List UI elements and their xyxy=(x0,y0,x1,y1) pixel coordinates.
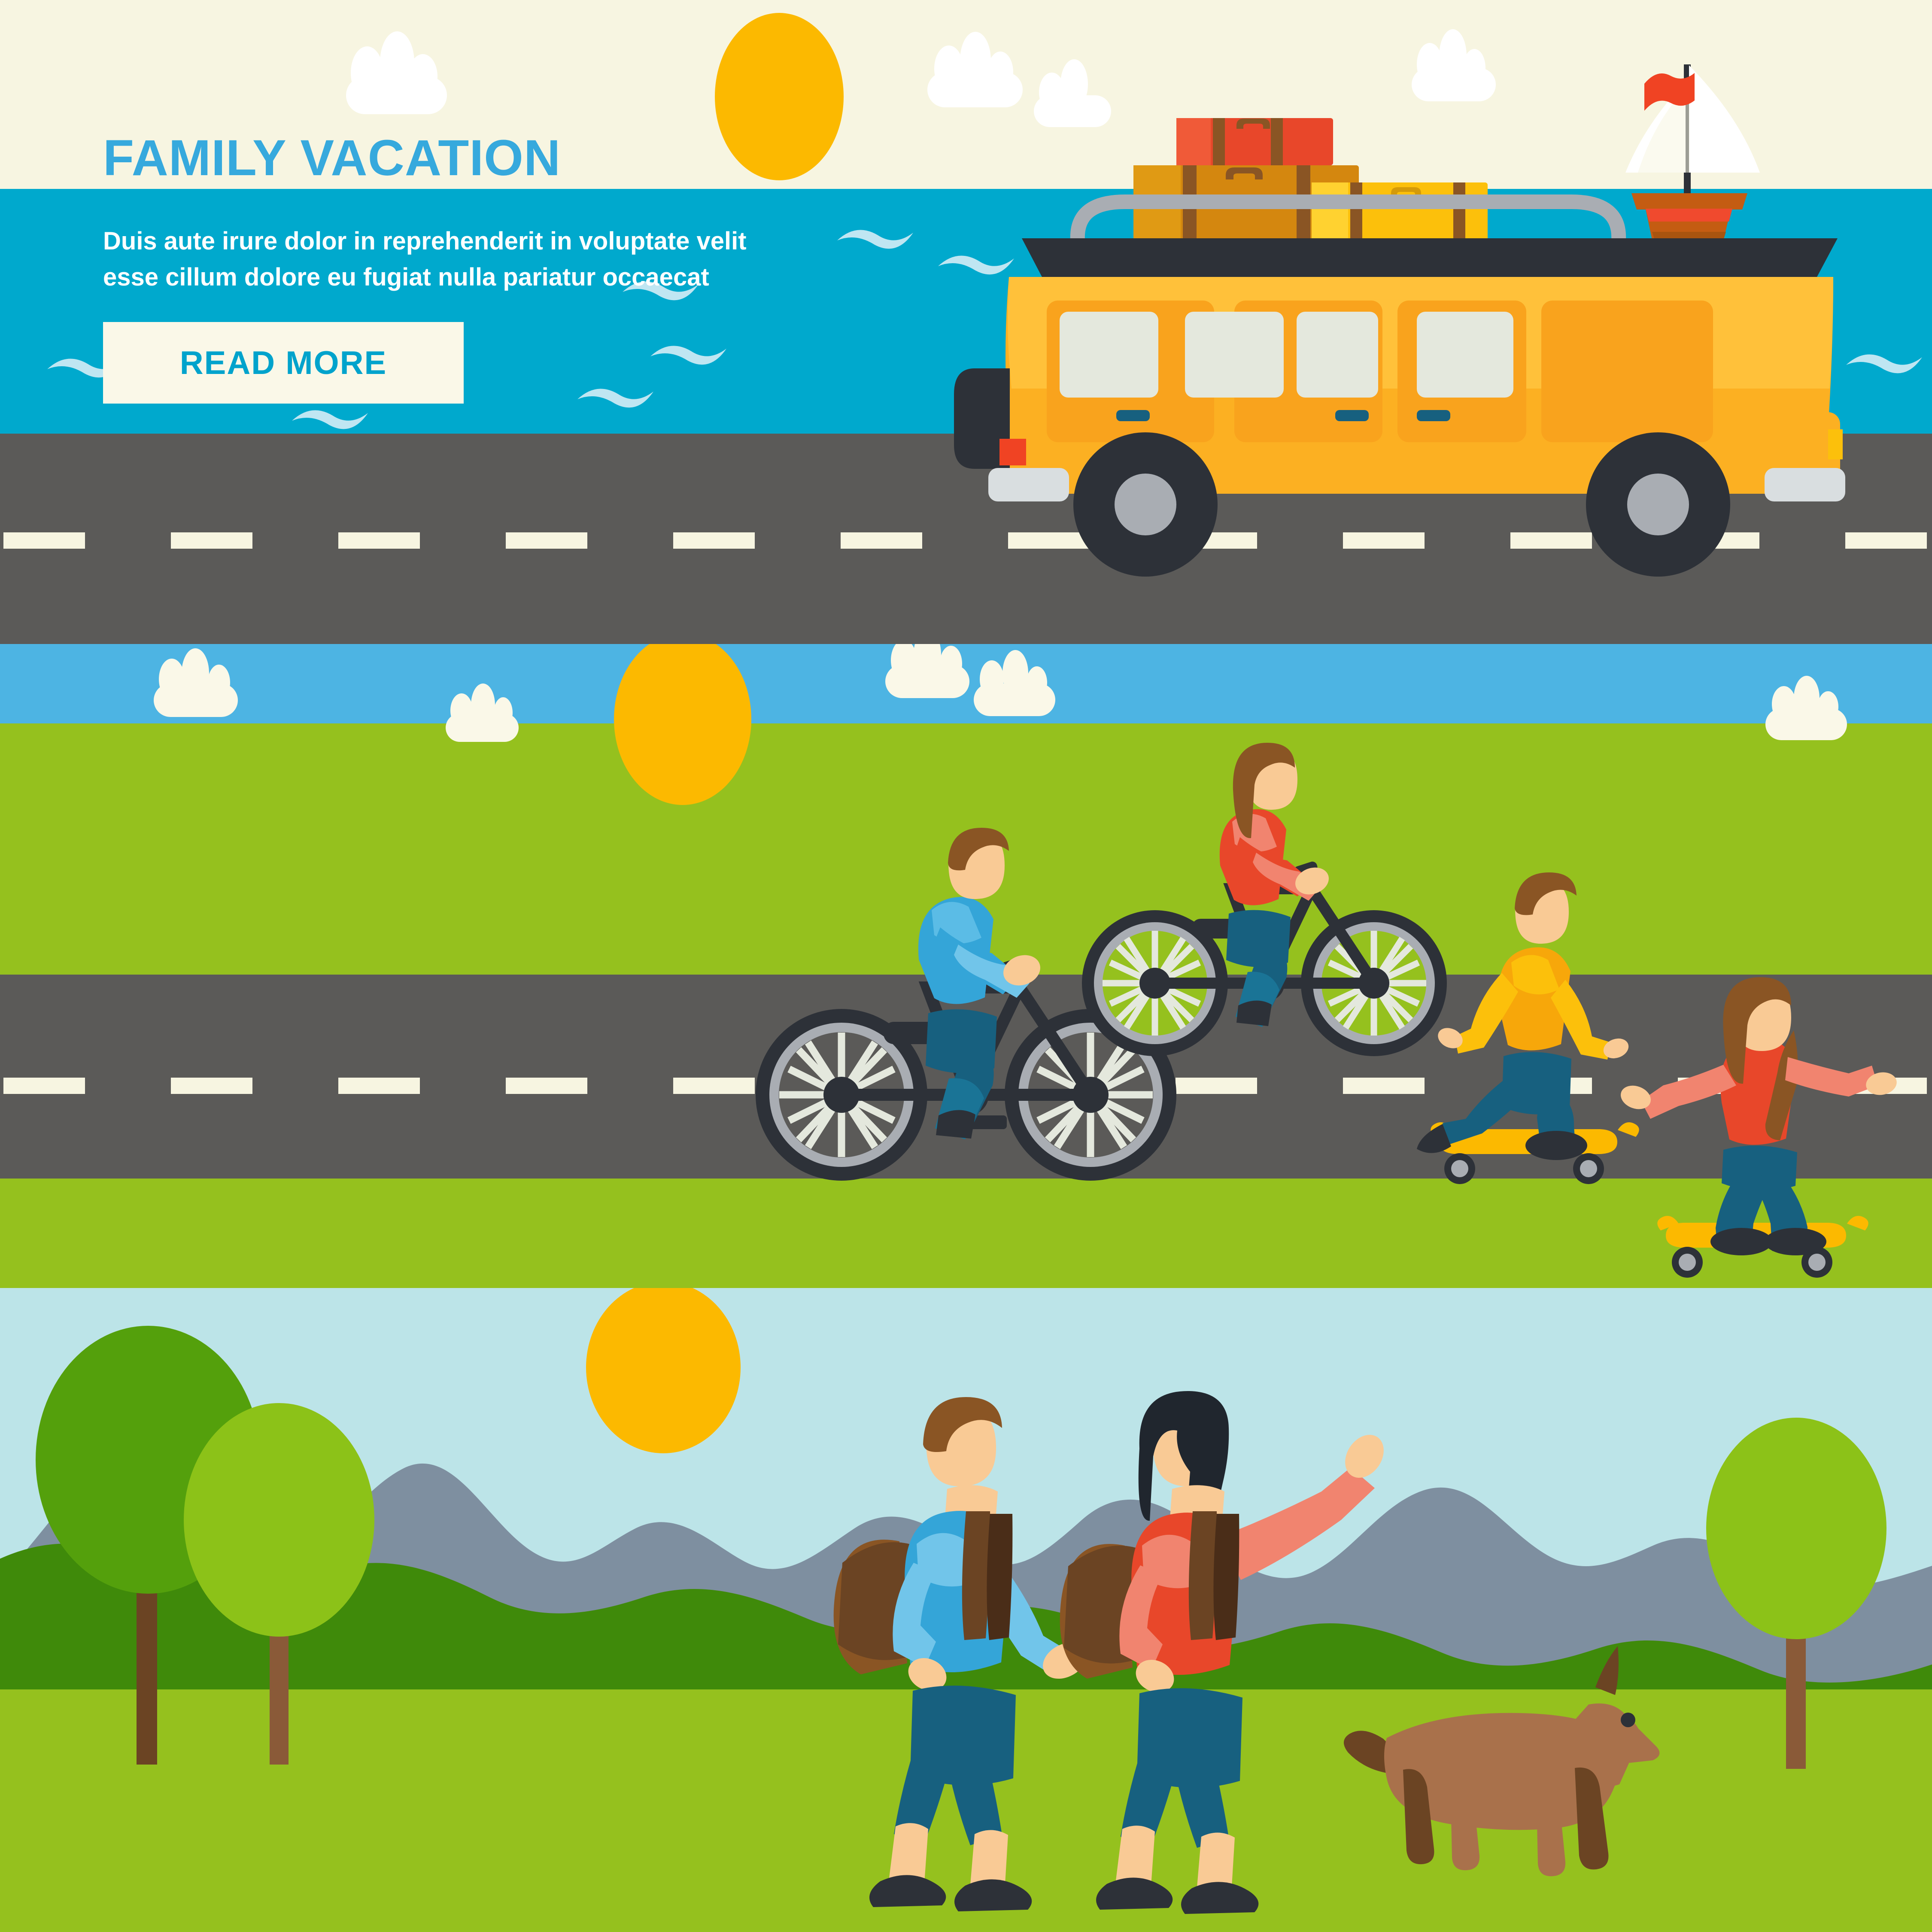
banner-title: FAMILY VACATION xyxy=(103,129,561,187)
grass-band-lower xyxy=(0,1179,1932,1288)
grass-band-upper xyxy=(0,723,1932,975)
banner-family-vacation: FAMILY VACATION Duis aute irure dolor in… xyxy=(0,0,1932,644)
sky-band xyxy=(0,1288,1932,1932)
road-band xyxy=(0,975,1932,1179)
banner-set: FAMILY VACATION Duis aute irure dolor in… xyxy=(0,0,1932,1932)
banner-body-text: Duis aute irure dolor in reprehenderit i… xyxy=(103,223,747,295)
banner-outdoor-activities: OUTDOOR ACTIVITIES Duis aute irure dolor… xyxy=(0,644,1932,1288)
banner-summer-holiday: SUMMER HOLIDAY Duis aute irure dolor in … xyxy=(0,1288,1932,1932)
sky-band xyxy=(0,644,1932,723)
read-more-button[interactable]: READ MORE xyxy=(103,322,464,404)
road-band xyxy=(0,434,1932,644)
